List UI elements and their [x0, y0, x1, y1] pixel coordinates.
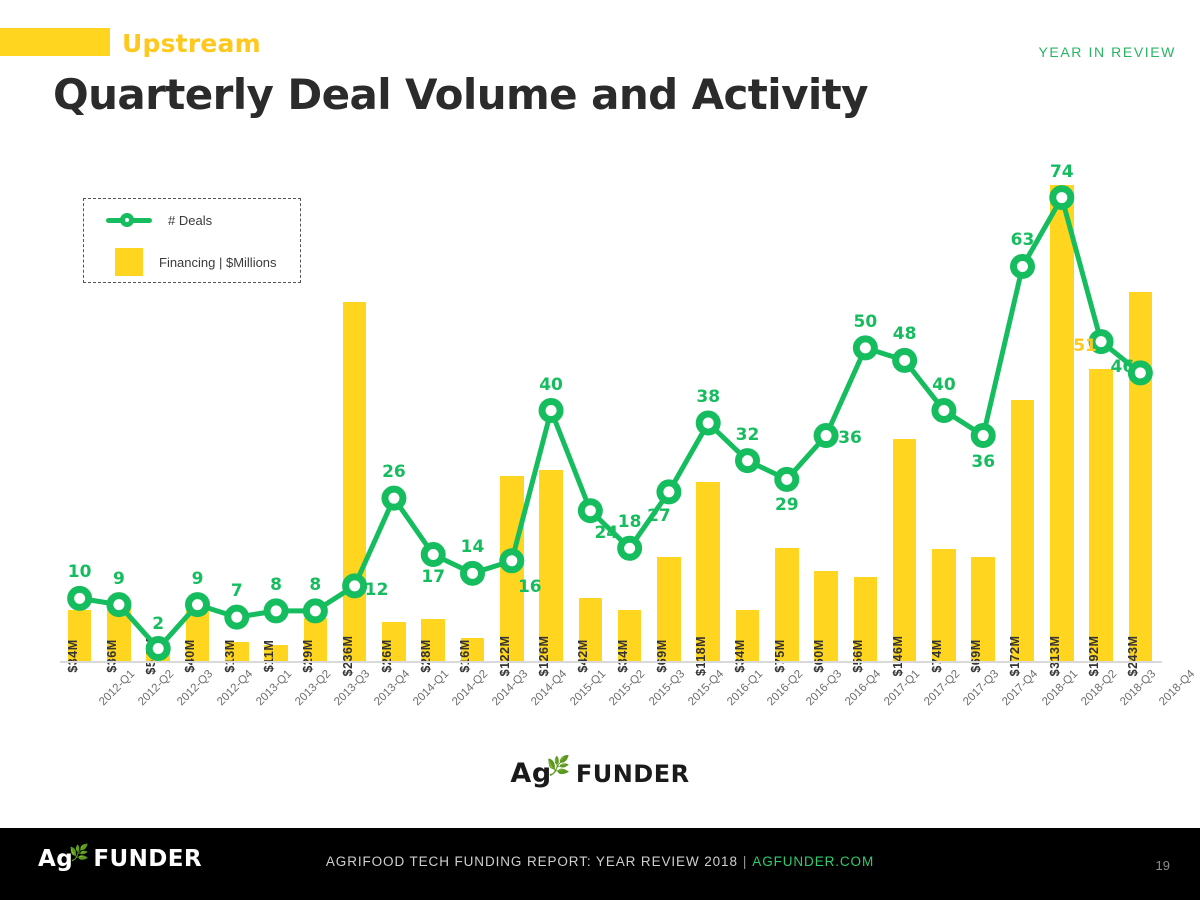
x-tick-label: 2016-Q4: [843, 668, 883, 708]
line-point-marker: [896, 351, 914, 369]
line-point-marker: [306, 602, 324, 620]
line-point-marker: [1053, 189, 1071, 207]
footer-separator: |: [743, 854, 747, 869]
x-tick-label: 2013-Q1: [254, 668, 294, 708]
agfunder-logo: Ag🌿FUNDER: [0, 758, 1200, 789]
point-value-label: 2: [152, 614, 164, 634]
line-point-marker: [935, 402, 953, 420]
point-value-label: 24: [595, 523, 619, 543]
line-point-marker: [149, 639, 167, 657]
x-tick-label: 2012-Q2: [136, 668, 176, 708]
x-tick-label: 2012-Q3: [175, 668, 215, 708]
x-axis-line: [60, 661, 1162, 663]
line-point-marker: [739, 452, 757, 470]
point-value-label: 51: [1073, 336, 1097, 356]
point-value-label: 12: [365, 580, 389, 600]
x-tick-label: 2016-Q2: [765, 668, 805, 708]
point-value-label: 29: [775, 495, 799, 515]
point-value-label: 18: [618, 512, 642, 532]
line-point-marker: [267, 602, 285, 620]
line-point-marker: [464, 564, 482, 582]
x-tick-label: 2012-Q4: [215, 668, 255, 708]
footer-report-title: AGRIFOOD TECH FUNDING REPORT: YEAR REVIE…: [326, 854, 738, 869]
point-value-label: 46: [1111, 357, 1135, 377]
point-value-label: 38: [696, 387, 720, 407]
point-value-label: 36: [838, 428, 862, 448]
line-point-marker: [503, 552, 521, 570]
point-value-label: 40: [932, 375, 956, 395]
x-tick-label: 2017-Q1: [882, 668, 922, 708]
point-value-label: 10: [68, 562, 92, 582]
year-in-review-label: YEAR IN REVIEW: [1038, 44, 1176, 60]
line-point-marker: [856, 339, 874, 357]
line-point-marker: [189, 596, 207, 614]
x-tick-label: 2014-Q2: [450, 668, 490, 708]
leaf-icon: 🌿: [547, 755, 571, 777]
logo-funder: FUNDER: [576, 760, 690, 788]
footer-website-link[interactable]: AGFUNDER.COM: [752, 854, 874, 869]
footer-caption: AGRIFOOD TECH FUNDING REPORT: YEAR REVIE…: [0, 854, 1200, 869]
point-value-label: 63: [1011, 230, 1035, 250]
line-point-marker: [778, 470, 796, 488]
point-value-label: 27: [647, 506, 671, 526]
x-tick-label: 2016-Q1: [725, 668, 765, 708]
x-tick-label: 2015-Q3: [647, 668, 687, 708]
line-point-marker: [424, 546, 442, 564]
x-tick-label: 2017-Q2: [922, 668, 962, 708]
line-point-marker: [346, 577, 364, 595]
line-point-marker: [1014, 257, 1032, 275]
point-value-label: 48: [893, 324, 917, 344]
x-tick-label: 2013-Q4: [372, 668, 412, 708]
x-axis-tick-labels: 2012-Q12012-Q22012-Q32012-Q42013-Q12013-…: [60, 668, 1162, 748]
footer-bar: Ag🌿FUNDER AGRIFOOD TECH FUNDING REPORT: …: [0, 828, 1200, 900]
chart-plot-area: $34M$36M$5.6M$40M$13M$11M$29M$236M$26M$2…: [60, 150, 1160, 662]
logo-a: A: [510, 758, 531, 789]
point-value-label: 36: [971, 452, 995, 472]
line-point-marker: [974, 427, 992, 445]
x-tick-label: 2017-Q4: [1000, 668, 1040, 708]
line-point-marker: [581, 502, 599, 520]
point-value-label: 74: [1050, 162, 1074, 182]
line-point-marker: [660, 483, 678, 501]
point-value-label: 14: [461, 537, 485, 557]
point-value-label: 16: [518, 577, 542, 597]
x-tick-label: 2018-Q2: [1079, 668, 1119, 708]
line-point-marker: [385, 489, 403, 507]
x-tick-label: 2013-Q3: [332, 668, 372, 708]
line-point-marker: [110, 596, 128, 614]
point-value-label: 7: [231, 581, 243, 601]
x-tick-label: 2018-Q3: [1118, 668, 1158, 708]
line-point-marker: [621, 539, 639, 557]
point-value-label: 50: [854, 312, 878, 332]
x-tick-label: 2014-Q3: [490, 668, 530, 708]
x-tick-label: 2018-Q4: [1157, 668, 1197, 708]
line-point-marker: [817, 427, 835, 445]
point-value-label: 9: [113, 569, 125, 589]
point-value-label: 8: [309, 575, 321, 595]
point-value-label: 40: [539, 375, 563, 395]
header-kicker: Upstream: [122, 29, 261, 58]
x-tick-label: 2015-Q1: [568, 668, 608, 708]
page-title: Quarterly Deal Volume and Activity: [53, 70, 868, 119]
point-value-label: 32: [736, 425, 760, 445]
x-tick-label: 2015-Q2: [607, 668, 647, 708]
x-tick-label: 2014-Q4: [529, 668, 569, 708]
x-tick-label: 2018-Q1: [1040, 668, 1080, 708]
x-tick-label: 2015-Q4: [686, 668, 726, 708]
x-tick-label: 2017-Q3: [961, 668, 1001, 708]
x-tick-label: 2016-Q3: [804, 668, 844, 708]
x-tick-label: 2013-Q2: [293, 668, 333, 708]
line-point-marker: [542, 402, 560, 420]
header-accent-bar: [0, 28, 110, 56]
line-series: [60, 150, 1160, 662]
point-value-label: 17: [421, 567, 445, 587]
line-point-marker: [699, 414, 717, 432]
point-value-label: 9: [192, 569, 204, 589]
point-value-label: 8: [270, 575, 282, 595]
line-point-marker: [228, 608, 246, 626]
x-tick-label: 2014-Q1: [411, 668, 451, 708]
page-number: 19: [1156, 858, 1170, 873]
x-tick-label: 2012-Q1: [97, 668, 137, 708]
point-value-label: 26: [382, 462, 406, 482]
line-point-marker: [71, 589, 89, 607]
